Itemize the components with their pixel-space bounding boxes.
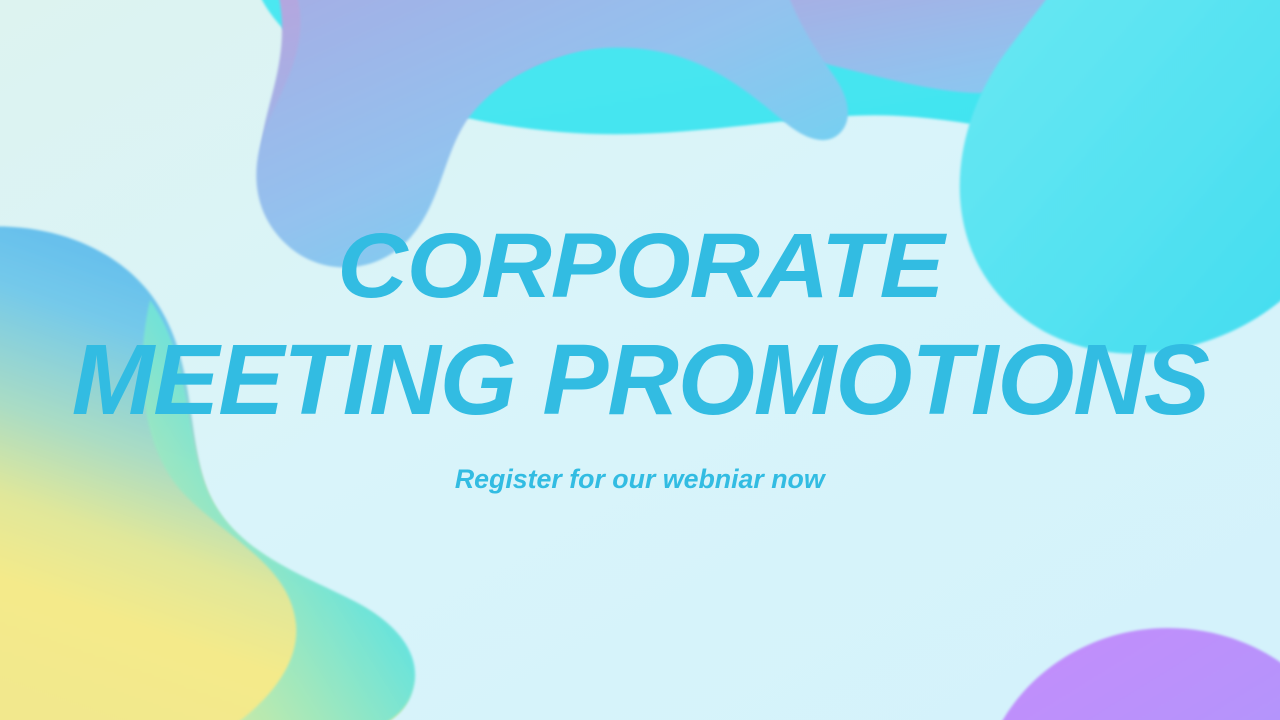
headline-line-1: CORPORATE [31, 220, 1249, 312]
headline-block: CORPORATE MEETING PROMOTIONS [66, 220, 1215, 464]
subtitle-call-to-action: Register for our webniar now [455, 464, 825, 495]
promo-poster: CORPORATE MEETING PROMOTIONS Register fo… [0, 0, 1280, 720]
poster-content: CORPORATE MEETING PROMOTIONS Register fo… [0, 0, 1280, 720]
headline-line-2: MEETING PROMOTIONS [71, 330, 1208, 430]
